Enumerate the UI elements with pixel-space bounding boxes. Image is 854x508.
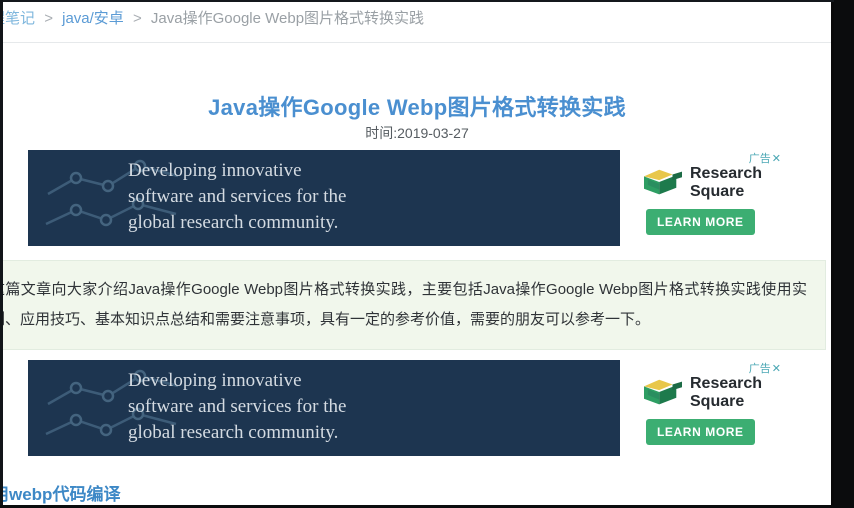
close-icon[interactable]: ✕ bbox=[771, 153, 781, 165]
research-square-logo-icon bbox=[640, 374, 686, 412]
ad-sidebar: 广告✕ Research Square LEARN MORE bbox=[638, 150, 803, 246]
article-summary: 这篇文章向大家介绍Java操作Google Webp图片格式转换实践，主要包括J… bbox=[3, 260, 826, 350]
breadcrumb-separator: > bbox=[39, 10, 58, 27]
ad-sidebar: 广告✕ Research Square LEARN MORE bbox=[638, 360, 803, 456]
breadcrumb-item-category[interactable]: java/安卓 bbox=[62, 10, 124, 27]
browser-screenshot: 编程笔记 > java/安卓 > Java操作Google Webp图片格式转换… bbox=[0, 0, 854, 508]
ad-banner-image[interactable]: Developing innovative software and servi… bbox=[28, 150, 620, 246]
advertiser-name: Research Square bbox=[690, 375, 762, 411]
breadcrumb-item-home[interactable]: 编程笔记 bbox=[3, 10, 35, 27]
section-heading: 使用webp代码编译 bbox=[3, 480, 120, 505]
page-title: Java操作Google Webp图片格式转换实践 bbox=[3, 90, 831, 122]
page-frame-right bbox=[834, 0, 854, 508]
advertiser-name: Research Square bbox=[690, 165, 762, 201]
header-divider bbox=[3, 42, 831, 43]
learn-more-button[interactable]: LEARN MORE bbox=[646, 419, 755, 445]
ad-headline: Developing innovative software and servi… bbox=[128, 158, 346, 236]
research-square-logo-icon bbox=[640, 164, 686, 202]
advertiser-logo: Research Square bbox=[640, 374, 762, 412]
publish-date: 时间:2019-03-27 bbox=[3, 123, 831, 143]
advertisement-top[interactable]: Developing innovative software and servi… bbox=[28, 150, 803, 248]
ad-banner-image[interactable]: Developing innovative software and servi… bbox=[28, 360, 620, 456]
advertisement-bottom[interactable]: Developing innovative software and servi… bbox=[28, 360, 803, 458]
breadcrumb-item-current: Java操作Google Webp图片格式转换实践 bbox=[151, 10, 424, 27]
breadcrumb: 编程笔记 > java/安卓 > Java操作Google Webp图片格式转换… bbox=[3, 8, 831, 30]
close-icon[interactable]: ✕ bbox=[771, 363, 781, 375]
learn-more-button[interactable]: LEARN MORE bbox=[646, 209, 755, 235]
page-viewport: 编程笔记 > java/安卓 > Java操作Google Webp图片格式转换… bbox=[3, 2, 831, 505]
breadcrumb-separator: > bbox=[128, 10, 147, 27]
advertiser-logo: Research Square bbox=[640, 164, 762, 202]
ad-headline: Developing innovative software and servi… bbox=[128, 368, 346, 446]
